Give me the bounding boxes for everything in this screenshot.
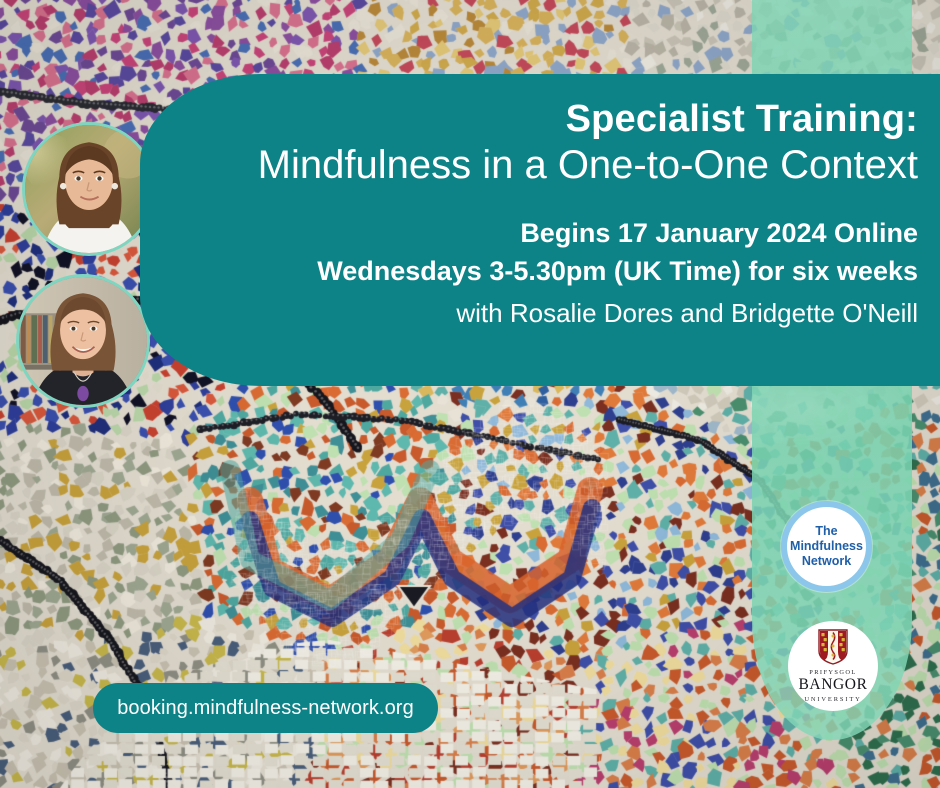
booking-url-pill[interactable]: booking.mindfulness-network.org (93, 683, 438, 733)
mindfulness-network-logo: The Mindfulness Network (781, 501, 872, 592)
bangor-prifysgol-text: PRIFYSGOL (809, 669, 856, 676)
headline-banner: Specialist Training: Mindfulness in a On… (140, 74, 940, 386)
mindfulness-network-logo-text: The Mindfulness Network (790, 524, 863, 570)
bangor-university-text: UNIVERSITY (804, 696, 861, 703)
detail-line-2: Wednesdays 3-5.30pm (UK Time) for six we… (180, 252, 918, 290)
avatar-rosalie-dores (22, 122, 156, 256)
booking-url-text: booking.mindfulness-network.org (117, 697, 414, 720)
bangor-name-text: BANGOR (798, 677, 867, 693)
title-line-2: Mindfulness in a One-to-One Context (180, 143, 918, 189)
detail-line-1: Begins 17 January 2024 Online (180, 214, 918, 252)
presenters-line: with Rosalie Dores and Bridgette O'Neill (180, 295, 918, 332)
poster: Specialist Training: Mindfulness in a On… (0, 0, 940, 788)
title-line-1: Specialist Training: (180, 98, 918, 141)
bangor-crest-icon (818, 629, 848, 665)
bangor-university-logo: PRIFYSGOL BANGOR UNIVERSITY (788, 621, 878, 711)
avatar-bridgette-oneill (16, 274, 150, 408)
